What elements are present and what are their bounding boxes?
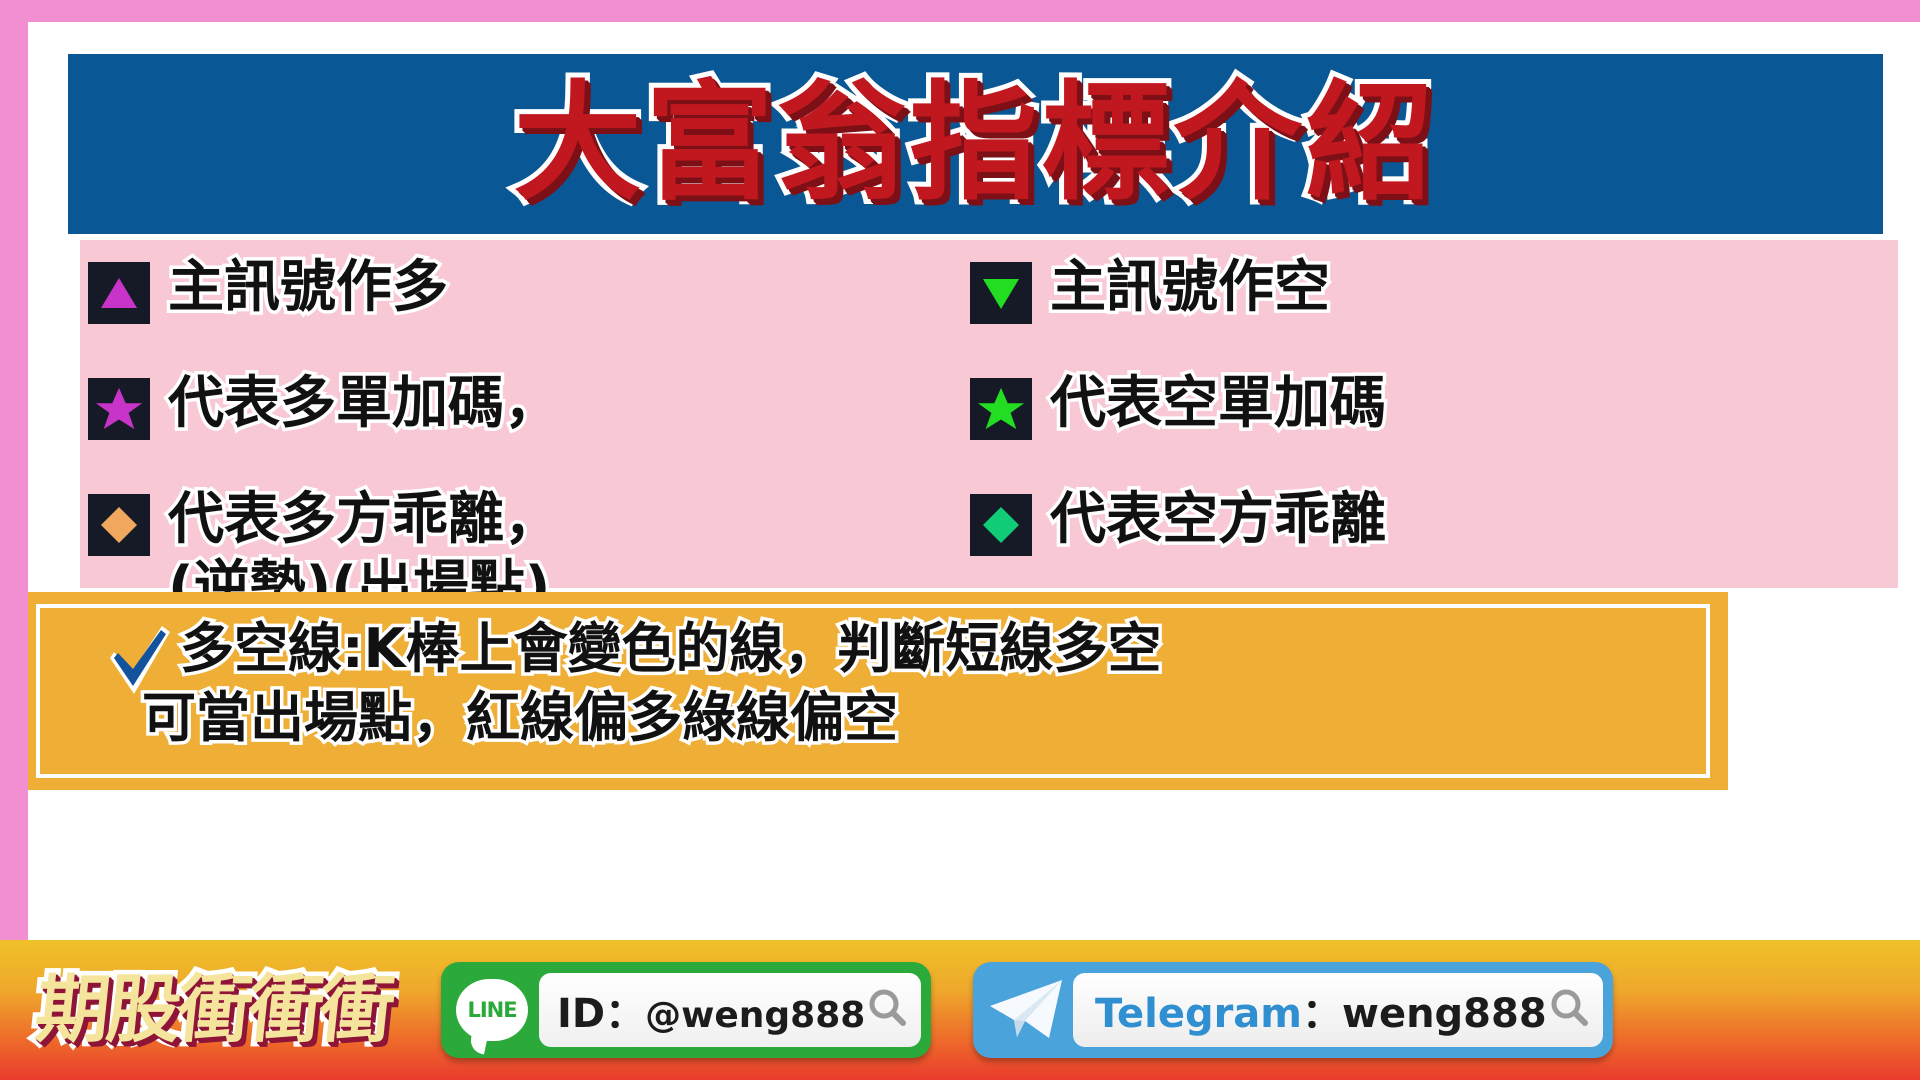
legend-panel: 主訊號作多 代表多單加碼， 代表多方乖離，(逆勢)(出場點) [80, 240, 1898, 588]
tip-inner-frame: 多空線:K棒上會變色的線，判斷短線多空可當出場點，紅線偏多綠線偏空 [36, 604, 1710, 778]
legend-item-label: 代表空單加碼 [1050, 370, 1386, 438]
legend-item-short-divergence: 代表空方乖離 [970, 486, 1386, 556]
telegram-separator: ： [1302, 991, 1342, 1037]
telegram-id-text: Telegram：weng888 [1095, 981, 1547, 1039]
diamond-icon [88, 494, 150, 556]
brand-logo: 期股衝衝衝 [32, 973, 395, 1047]
legend-item-short-addon: 代表空單加碼 [970, 370, 1386, 440]
legend-item-label: 代表多方乖離， [168, 487, 560, 552]
telegram-id-value: weng888 [1342, 991, 1547, 1037]
triangle-up-icon [88, 262, 150, 324]
tip-line-1: 多空線:K棒上會變色的線，判斷短線多空 [180, 617, 1161, 680]
line-id-field[interactable]: ID：@weng888 [539, 973, 921, 1047]
telegram-id-field[interactable]: Telegram：weng888 [1073, 973, 1603, 1047]
legend-item-label: 主訊號作空 [1050, 254, 1330, 322]
title-banner: 大富翁指標介紹 [68, 54, 1883, 234]
tip-box: 多空線:K棒上會變色的線，判斷短線多空可當出場點，紅線偏多綠線偏空 [28, 592, 1728, 790]
legend-item-label: 代表多單加碼， [168, 370, 560, 438]
page-title: 大富翁指標介紹 [513, 80, 1437, 208]
legend-item-label: 代表空方乖離 [1050, 486, 1386, 554]
tip-text-group: 多空線:K棒上會變色的線，判斷短線多空可當出場點，紅線偏多綠線偏空 [180, 614, 1161, 752]
triangle-down-icon [970, 262, 1032, 324]
legend-column-short: 主訊號作空 代表空單加碼 代表空方乖離 [960, 240, 1898, 588]
footer-bar: 期股衝衝衝 LINE ID：@weng888 [0, 940, 1920, 1080]
line-contact-badge[interactable]: LINE ID：@weng888 [441, 962, 931, 1058]
legend-item-long-addon: 代表多單加碼， [88, 370, 560, 440]
legend-item-label: 主訊號作多 [168, 254, 448, 322]
magnifier-icon[interactable] [1547, 986, 1591, 1034]
star-icon [88, 378, 150, 440]
main-card: 大富翁指標介紹 主訊號作多 代表多單加碼， 代表多方乖離，(逆勢) [28, 22, 1920, 940]
line-id-prefix: ID： [557, 991, 645, 1037]
diamond-icon [970, 494, 1032, 556]
tip-line-2: 可當出場點，紅線偏多綠線偏空 [142, 683, 1161, 752]
line-id-text: ID：@weng888 [557, 981, 865, 1039]
star-icon [970, 378, 1032, 440]
legend-item-short-signal: 主訊號作空 [970, 254, 1330, 324]
line-logo-icon: LINE [455, 973, 529, 1047]
magnifier-icon[interactable] [865, 986, 909, 1034]
line-logo-word: LINE [467, 998, 516, 1022]
telegram-name: Telegram [1095, 991, 1302, 1037]
line-id-value: @weng888 [645, 995, 865, 1036]
legend-column-long: 主訊號作多 代表多單加碼， 代表多方乖離，(逆勢)(出場點) [80, 240, 960, 588]
telegram-contact-badge[interactable]: Telegram：weng888 [973, 962, 1613, 1058]
telegram-plane-icon [987, 975, 1065, 1045]
legend-item-long-signal: 主訊號作多 [88, 254, 448, 324]
